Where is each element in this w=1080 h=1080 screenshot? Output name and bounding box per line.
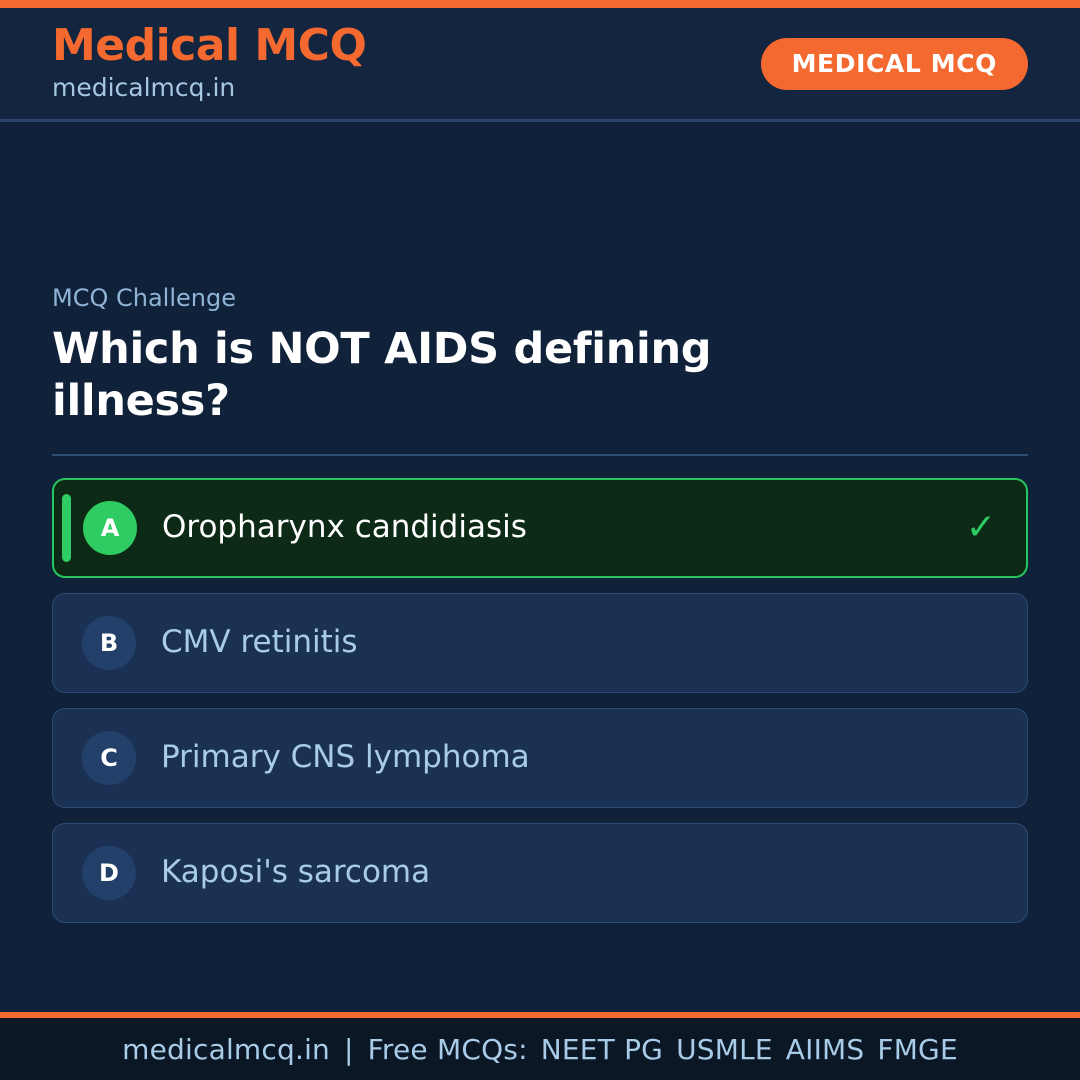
question-kicker: MCQ Challenge (52, 284, 1028, 313)
check-icon: ✓ (966, 510, 996, 546)
option-a-label: Oropharynx candidiasis (162, 510, 966, 546)
brand: Medical MCQ medicalmcq.in (52, 23, 366, 103)
footer-separator: | (330, 1033, 368, 1066)
brand-title: Medical MCQ (52, 23, 366, 69)
brand-subtitle: medicalmcq.in (52, 72, 366, 103)
option-a-letter-badge: A (83, 501, 137, 555)
option-d[interactable]: D Kaposi's sarcoma (52, 823, 1028, 923)
option-b-label: CMV retinitis (161, 625, 999, 661)
main-content: MCQ Challenge Which is NOT AIDS defining… (0, 122, 1080, 1012)
option-a[interactable]: A Oropharynx candidiasis ✓ (52, 478, 1028, 578)
footer-exam-aiims: AIIMS (773, 1033, 865, 1066)
option-b-letter-badge: B (82, 616, 136, 670)
options-list: A Oropharynx candidiasis ✓ B CMV retinit… (52, 478, 1028, 923)
option-d-letter-badge: D (82, 846, 136, 900)
option-c[interactable]: C Primary CNS lymphoma (52, 708, 1028, 808)
question-block: MCQ Challenge Which is NOT AIDS defining… (52, 284, 1028, 428)
top-accent-strip (0, 0, 1080, 8)
option-b[interactable]: B CMV retinitis (52, 593, 1028, 693)
footer-text: medicalmcq.in|Free MCQs:NEET PGUSMLEAIIM… (122, 1033, 958, 1066)
footer: medicalmcq.in|Free MCQs:NEET PGUSMLEAIIM… (0, 1012, 1080, 1080)
option-c-letter-badge: C (82, 731, 136, 785)
footer-exam-usmle: USMLE (663, 1033, 773, 1066)
option-c-label: Primary CNS lymphoma (161, 740, 999, 776)
footer-exam-fmge: FMGE (864, 1033, 957, 1066)
footer-site: medicalmcq.in (122, 1033, 330, 1066)
question-divider (52, 454, 1028, 456)
correct-accent-bar (62, 494, 71, 562)
footer-label: Free MCQs: (368, 1033, 528, 1066)
header-badge: MEDICAL MCQ (761, 38, 1028, 90)
header: Medical MCQ medicalmcq.in MEDICAL MCQ (0, 8, 1080, 122)
mcq-card: Medical MCQ medicalmcq.in MEDICAL MCQ MC… (0, 0, 1080, 1080)
footer-exam-neet: NEET PG (528, 1033, 663, 1066)
question-text: Which is NOT AIDS defining illness? (52, 323, 882, 428)
option-d-label: Kaposi's sarcoma (161, 855, 999, 891)
